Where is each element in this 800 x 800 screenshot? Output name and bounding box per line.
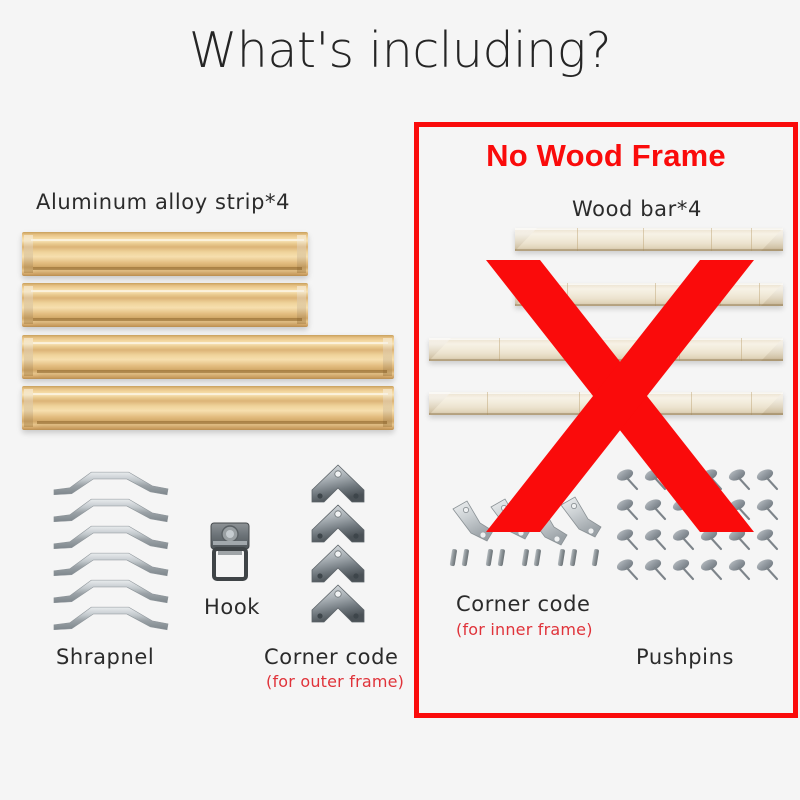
wood-bevel — [761, 228, 783, 251]
hook-icon — [207, 521, 253, 583]
shrapnel-icon — [52, 597, 170, 631]
strip-end-cap — [24, 338, 33, 377]
corner-code-outer-group — [308, 462, 372, 632]
wood-bar-4 — [429, 392, 783, 415]
corner-code-icon — [308, 502, 368, 546]
strip-end-cap — [383, 338, 392, 377]
strip-end-cap — [297, 286, 306, 325]
strip-end-cap — [24, 389, 33, 428]
corner-code-icon — [308, 582, 368, 626]
wood-bevel — [515, 283, 537, 306]
shrapnel-group — [52, 462, 182, 622]
aluminum-strip-1 — [22, 232, 308, 276]
screw-icon — [450, 549, 600, 567]
wood-edge — [429, 413, 783, 415]
wood-bevel — [429, 392, 451, 415]
pushpins-label: Pushpins — [636, 645, 734, 669]
wood-bevel — [761, 283, 783, 306]
corner-code-inner-group — [447, 487, 612, 569]
strip-end-cap — [297, 235, 306, 274]
page-title: What's including? — [0, 22, 800, 79]
corner-code-outer-sublabel: (for outer frame) — [266, 672, 404, 691]
strip-end-cap — [24, 286, 33, 325]
wood-bevel — [761, 338, 783, 361]
wood-bar-3 — [429, 338, 783, 361]
wood-bevel — [761, 392, 783, 415]
wood-bar-1 — [515, 228, 783, 251]
corner-code-outer-label: Corner code — [264, 645, 399, 669]
no-wood-frame-heading: No Wood Frame — [414, 138, 798, 174]
wood-bar-label: Wood bar*4 — [572, 197, 702, 221]
aluminum-strip-2 — [22, 283, 308, 327]
infographic-canvas: What's including? Aluminum alloy strip*4 — [0, 0, 800, 800]
wood-edge — [429, 359, 783, 361]
wood-edge — [515, 283, 783, 285]
wood-edge — [515, 249, 783, 251]
wood-edge — [429, 338, 783, 340]
strip-end-cap — [24, 235, 33, 274]
aluminum-strip-3 — [22, 335, 394, 379]
shrapnel-label: Shrapnel — [56, 645, 154, 669]
strip-end-cap — [383, 389, 392, 428]
wood-edge — [429, 392, 783, 394]
pushpin-group — [617, 468, 785, 590]
corner-code-inner-label: Corner code — [456, 592, 591, 616]
wood-edge — [515, 304, 783, 306]
wood-bar-2 — [515, 283, 783, 306]
hook-label: Hook — [204, 595, 260, 619]
aluminum-strip-label: Aluminum alloy strip*4 — [36, 190, 290, 214]
wood-bevel — [429, 338, 451, 361]
wood-edge — [515, 228, 783, 230]
corner-code-icon — [308, 462, 368, 506]
aluminum-strip-4 — [22, 386, 394, 430]
corner-code-icon — [308, 542, 368, 586]
corner-code-inner-sublabel: (for inner frame) — [456, 620, 593, 639]
wood-bevel — [515, 228, 537, 251]
